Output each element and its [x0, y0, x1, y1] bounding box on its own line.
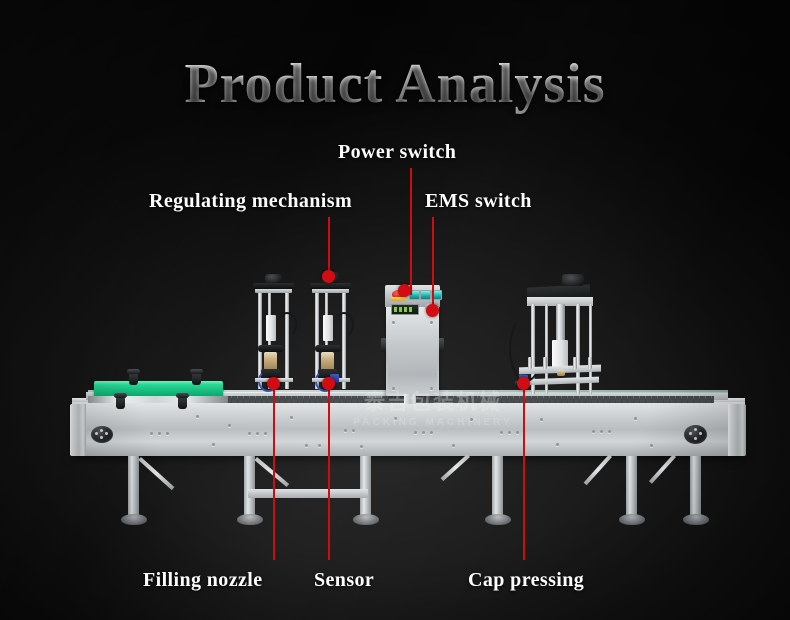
callout-leader-line-cap-pressing — [523, 385, 525, 560]
filling-valve-2 — [321, 352, 334, 370]
callout-marker-cap-pressing — [517, 377, 530, 390]
rail-knob-2 — [178, 396, 187, 409]
conveyor-frame — [72, 400, 745, 456]
foot-6 — [683, 514, 709, 525]
callout-marker-regulating-mechanism — [322, 270, 335, 283]
leg-1 — [128, 456, 139, 518]
foot-2 — [237, 514, 263, 525]
page-title: Product Analysis — [0, 52, 790, 116]
screenshot-root: 泰吉包装机械 PACKING MACHINERY Product Analysi… — [0, 0, 790, 620]
callout-marker-ems-switch — [426, 304, 439, 317]
cap-press-cable — [509, 316, 543, 382]
callout-leader-line-power-switch — [410, 168, 412, 295]
foot-3 — [353, 514, 379, 525]
control-display — [391, 304, 419, 315]
leg-brace-5 — [584, 454, 612, 485]
callout-marker-filling-nozzle — [267, 377, 280, 390]
callout-marker-sensor — [322, 377, 335, 390]
leg-3 — [360, 456, 371, 518]
tension-disc-left — [91, 426, 113, 443]
leg-2 — [244, 456, 255, 518]
frame-end-right — [728, 404, 746, 456]
callout-leader-line-sensor — [328, 385, 330, 560]
estop-guard — [391, 297, 405, 301]
callout-label-ems-switch: EMS switch — [425, 190, 532, 213]
callout-label-filling-nozzle: Filling nozzle — [143, 569, 262, 592]
callout-marker-power-switch — [398, 284, 411, 297]
leg-brace-6 — [649, 454, 676, 483]
frame-end-left — [70, 404, 86, 456]
rail-knob-1 — [116, 396, 125, 409]
filling-valve-1 — [264, 352, 277, 370]
foot-4 — [485, 514, 511, 525]
leg-4 — [492, 456, 503, 518]
guide-rail-bar — [88, 396, 228, 403]
leg-5 — [626, 456, 637, 518]
callout-leader-line-ems-switch — [432, 217, 434, 315]
lower-cross-brace — [248, 489, 368, 498]
foot-1 — [121, 514, 147, 525]
cap-press-motor — [562, 274, 584, 286]
callout-label-regulating-mechanism: Regulating mechanism — [149, 190, 352, 213]
callout-label-sensor: Sensor — [314, 569, 374, 592]
button-stop[interactable] — [420, 290, 431, 300]
callout-label-cap-pressing: Cap pressing — [468, 569, 584, 592]
leg-brace-2 — [254, 457, 289, 487]
leg-6 — [690, 456, 701, 518]
leg-brace-1 — [138, 457, 174, 490]
callout-label-power-switch: Power switch — [338, 141, 456, 164]
rail-adjuster-2 — [192, 372, 201, 385]
regulating-knob-1 — [265, 274, 282, 283]
tension-disc-right — [684, 425, 707, 444]
rail-adjuster-1 — [129, 372, 138, 385]
foot-5 — [619, 514, 645, 525]
callout-leader-line-filling-nozzle — [273, 385, 275, 560]
leg-brace-4 — [441, 454, 470, 481]
